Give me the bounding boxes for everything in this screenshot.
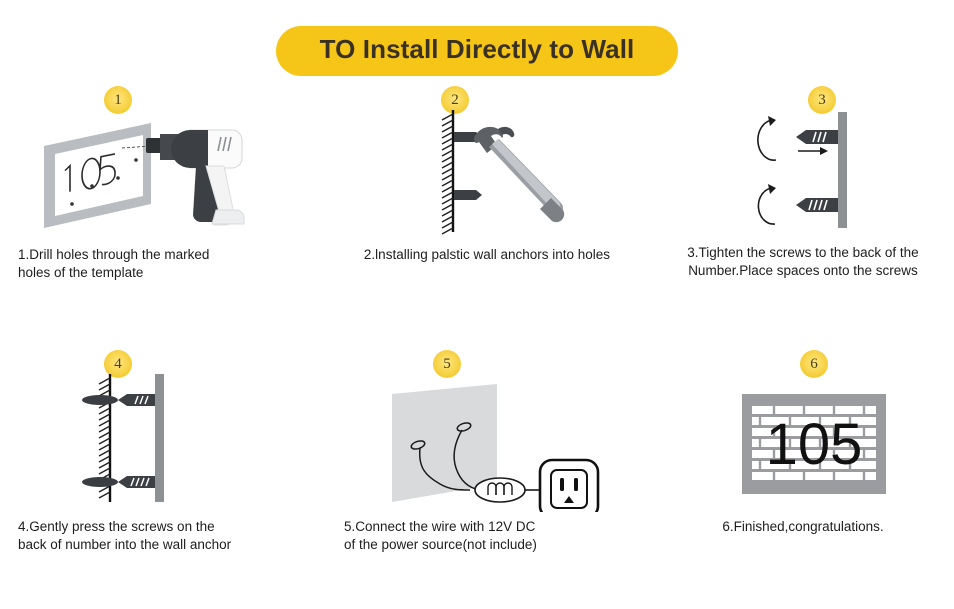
step-2-illustration — [322, 104, 652, 249]
step-4-caption: 4.Gently press the screws on the back of… — [0, 518, 322, 554]
step-1-caption: 1.Drill holes through the marked holes o… — [0, 246, 322, 282]
step-3-caption: 3.Tighten the screws to the back of the … — [652, 244, 954, 280]
drill-and-template-icon — [0, 106, 322, 241]
outlet-icon — [540, 460, 598, 512]
screw-icon — [796, 130, 838, 144]
page-title: TO Install Directly to Wall — [276, 26, 679, 76]
house-number-105: 105 — [766, 412, 863, 477]
instruction-sheet: TO Install Directly to Wall 1 — [0, 0, 954, 609]
template-icon — [44, 123, 151, 228]
push-arrow-icon — [798, 147, 828, 155]
step-3-illustration — [652, 106, 954, 241]
rotation-arrow-icon — [758, 184, 776, 224]
rotation-arrow-icon — [758, 116, 776, 160]
screw-icon — [118, 394, 155, 406]
step-2: 2 — [322, 86, 652, 286]
step-4: 4 — [0, 350, 322, 565]
step-6-illustration: 105 — [652, 372, 954, 507]
finished-brick-wall-icon: 105 — [652, 372, 954, 502]
steps-row-top: 1 — [0, 86, 954, 286]
backplate-icon — [838, 112, 847, 228]
step-1: 1 — [0, 86, 322, 286]
step-6-caption: 6.Finished,congratulations. — [652, 518, 954, 536]
step-3: 3 — [652, 86, 954, 286]
drill-icon — [146, 130, 244, 225]
title-area: TO Install Directly to Wall — [0, 26, 954, 76]
transformer-icon — [475, 478, 540, 502]
step-5-caption: 5.Connect the wire with 12V DC of the po… — [322, 518, 652, 554]
step-1-illustration — [0, 106, 322, 246]
screw-icon — [796, 198, 838, 212]
backplate-icon — [155, 374, 164, 502]
step-6: 6 — [652, 350, 954, 565]
steps-row-bottom: 4 — [0, 350, 954, 565]
wall-icon — [442, 110, 453, 234]
step-2-caption: 2.lnstalling palstic wall anchors into h… — [322, 246, 652, 264]
step-5-illustration — [322, 372, 652, 517]
wire-to-outlet-icon — [322, 372, 652, 512]
hammer-and-anchors-icon — [322, 104, 652, 244]
hammer-icon — [474, 127, 564, 222]
step-4-illustration — [0, 370, 322, 515]
screws-into-plate-icon — [652, 106, 954, 236]
press-screws-icon — [0, 370, 322, 510]
step-5: 5 — [322, 350, 652, 565]
screw-icon — [118, 476, 155, 488]
